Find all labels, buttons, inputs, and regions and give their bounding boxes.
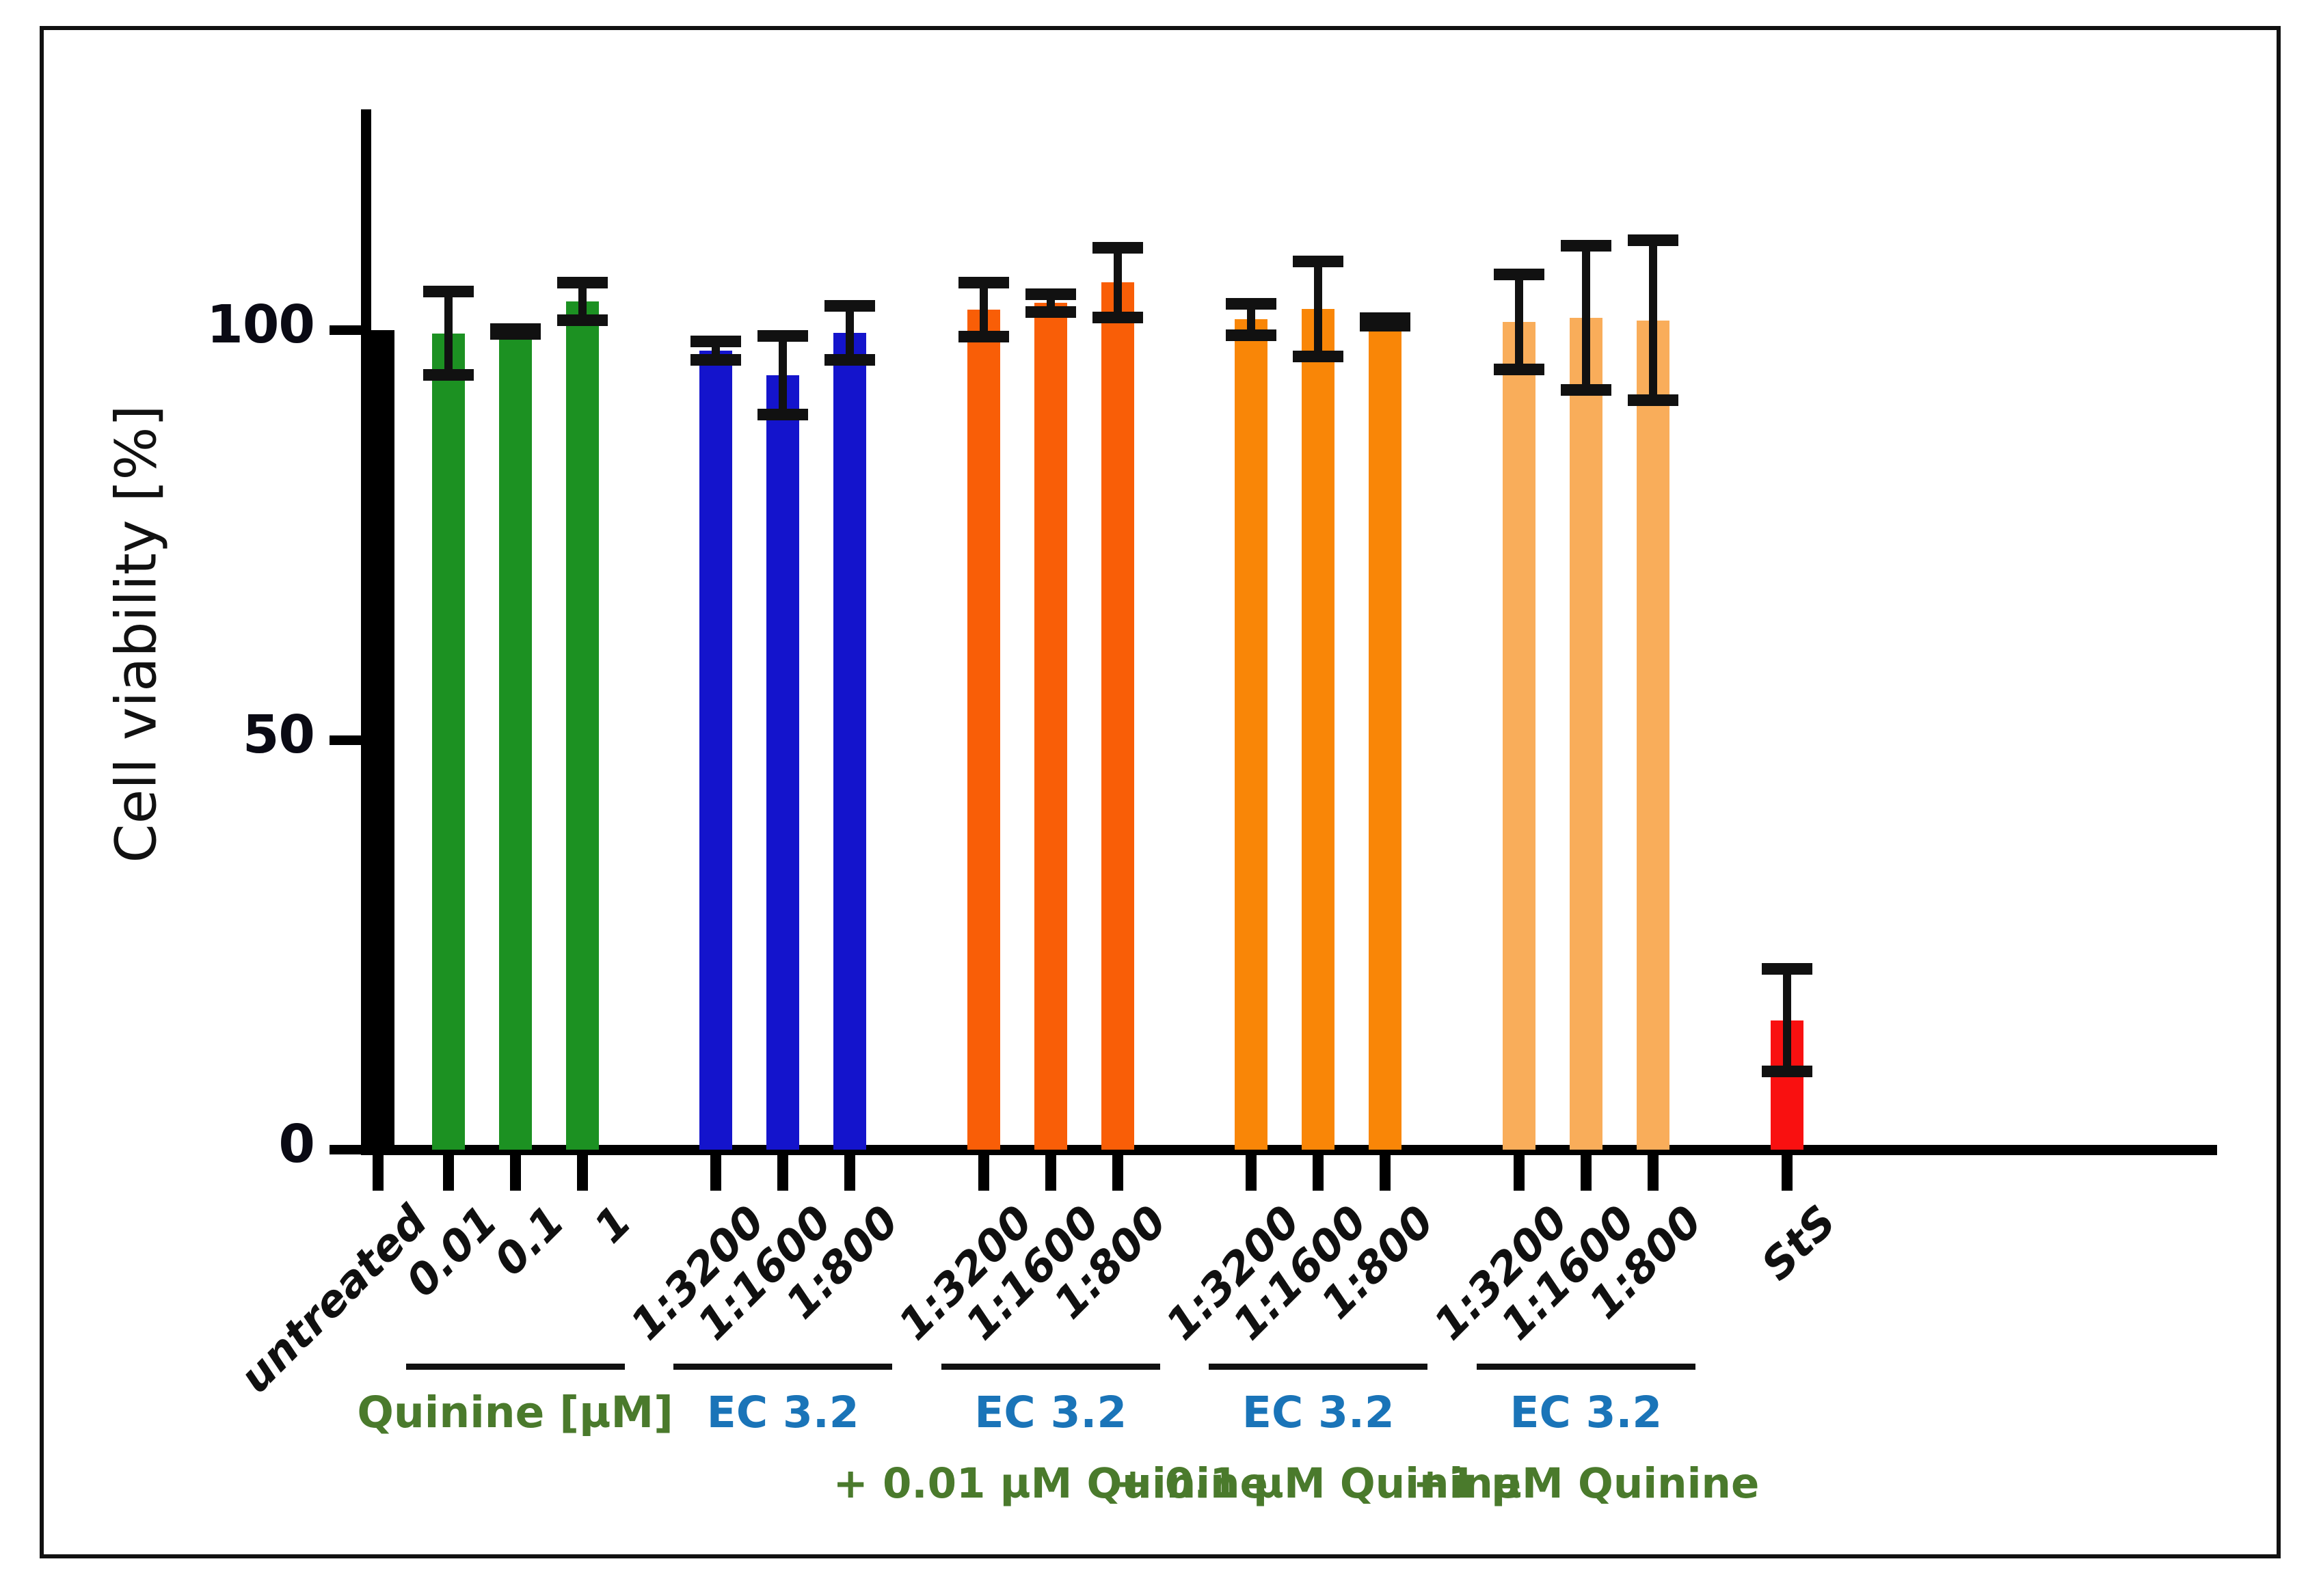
error-bar-5 — [752, 330, 814, 420]
error-bar-14 — [1555, 240, 1617, 396]
x-tick-14 — [1581, 1155, 1592, 1191]
bar-13 — [1503, 322, 1535, 1150]
error-bar-stem — [1783, 963, 1791, 1078]
error-bar-cap-bottom — [1360, 320, 1410, 332]
y-tick-100 — [330, 325, 361, 335]
bar-4 — [699, 351, 732, 1150]
x-tick-15 — [1648, 1155, 1659, 1191]
error-bar-cap-bottom — [824, 354, 875, 366]
error-bar-cap-bottom — [557, 314, 608, 326]
x-tick-5 — [777, 1155, 788, 1191]
x-tick-0 — [373, 1155, 384, 1191]
bar-9 — [1101, 282, 1134, 1150]
error-bar-cap-bottom — [1561, 384, 1611, 396]
error-bar-cap-top — [423, 286, 474, 297]
group-rule-1 — [673, 1364, 892, 1370]
error-bar-1 — [418, 286, 479, 381]
error-bar-cap-bottom — [423, 369, 474, 381]
error-bar-10 — [1220, 298, 1282, 340]
error-bar-9 — [1087, 242, 1149, 324]
x-tick-4 — [710, 1155, 721, 1191]
y-tick-50 — [330, 735, 361, 745]
bar-11 — [1302, 309, 1334, 1150]
error-bar-cap-top — [1762, 963, 1812, 975]
x-tick-16 — [1782, 1155, 1793, 1191]
plot-area: Cell viability [%] 050100 untreated0.010… — [0, 0, 2321, 1596]
y-tick-label-0: 0 — [171, 1114, 314, 1175]
bar-12 — [1369, 322, 1401, 1150]
x-tick-1 — [443, 1155, 454, 1191]
error-bar-cap-top — [824, 300, 875, 312]
error-bar-cap-bottom — [1762, 1066, 1812, 1077]
bar-3 — [566, 301, 599, 1150]
error-bar-13 — [1488, 269, 1550, 375]
x-tick-8 — [1045, 1155, 1056, 1191]
error-bar-cap-bottom — [1293, 351, 1343, 362]
x-tick-2 — [510, 1155, 521, 1191]
bar-8 — [1034, 303, 1067, 1150]
bar-2 — [499, 332, 532, 1150]
bar-15 — [1637, 321, 1669, 1150]
error-bar-cap-bottom — [1628, 394, 1678, 406]
x-tick-11 — [1313, 1155, 1324, 1191]
error-bar-cap-top — [757, 330, 808, 342]
error-bar-cap-top — [1494, 269, 1544, 280]
x-tick-13 — [1514, 1155, 1525, 1191]
error-bar-cap-bottom — [1025, 306, 1076, 318]
error-bar-stem — [1314, 256, 1322, 362]
bar-7 — [967, 310, 1000, 1150]
error-bar-3 — [552, 277, 613, 326]
bar-6 — [833, 333, 866, 1150]
error-bar-cap-bottom — [690, 354, 741, 366]
group-rule-3 — [1209, 1364, 1427, 1370]
bar-0 — [362, 330, 394, 1150]
figure-canvas: Cell viability [%] 050100 untreated0.010… — [0, 0, 2321, 1596]
error-bar-12 — [1354, 312, 1416, 332]
group-label-4: EC 3.2 — [1313, 1388, 1860, 1437]
error-bar-4 — [685, 336, 747, 365]
error-bar-cap-top — [1628, 234, 1678, 246]
x-tick-9 — [1112, 1155, 1123, 1191]
x-tick-3 — [577, 1155, 588, 1191]
error-bar-cap-bottom — [1092, 312, 1143, 323]
error-bar-stem — [444, 286, 453, 381]
group-rule-2 — [941, 1364, 1160, 1370]
error-bar-cap-bottom — [958, 331, 1009, 342]
x-tick-10 — [1246, 1155, 1257, 1191]
error-bar-cap-bottom — [757, 409, 808, 420]
error-bar-cap-top — [557, 277, 608, 288]
error-bar-7 — [953, 277, 1015, 342]
x-tick-7 — [978, 1155, 989, 1191]
x-axis-line — [361, 1145, 2217, 1155]
error-bar-stem — [779, 330, 787, 420]
error-bar-cap-bottom — [1226, 329, 1276, 341]
error-bar-2 — [485, 323, 546, 340]
group-sublabel-4: +1 µM Quinine — [1278, 1459, 1894, 1508]
error-bar-cap-top — [1025, 288, 1076, 300]
error-bar-stem — [1582, 240, 1590, 396]
error-bar-stem — [1515, 269, 1523, 375]
error-bar-16 — [1756, 963, 1818, 1078]
group-rule-0 — [406, 1364, 625, 1370]
error-bar-11 — [1287, 256, 1349, 362]
error-bar-6 — [819, 300, 881, 366]
y-tick-0 — [330, 1145, 361, 1154]
error-bar-stem — [1649, 234, 1657, 407]
error-bar-cap-top — [1561, 240, 1611, 252]
group-rule-4 — [1477, 1364, 1695, 1370]
x-tick-12 — [1380, 1155, 1391, 1191]
error-bar-8 — [1020, 288, 1082, 318]
x-tick-6 — [844, 1155, 855, 1191]
error-bar-cap-top — [1092, 242, 1143, 254]
y-axis-title: Cell viability [%] — [105, 375, 170, 894]
error-bar-cap-top — [1293, 256, 1343, 267]
error-bar-cap-bottom — [1494, 364, 1544, 375]
error-bar-15 — [1622, 234, 1684, 407]
error-bar-cap-top — [690, 336, 741, 347]
bar-1 — [432, 334, 465, 1150]
y-tick-label-100: 100 — [171, 295, 314, 355]
bar-14 — [1570, 318, 1602, 1150]
bar-5 — [766, 375, 799, 1150]
y-tick-label-50: 50 — [171, 705, 314, 766]
error-bar-cap-top — [1226, 298, 1276, 310]
error-bar-cap-bottom — [490, 328, 541, 340]
error-bar-cap-top — [958, 277, 1009, 288]
bar-10 — [1235, 319, 1267, 1150]
